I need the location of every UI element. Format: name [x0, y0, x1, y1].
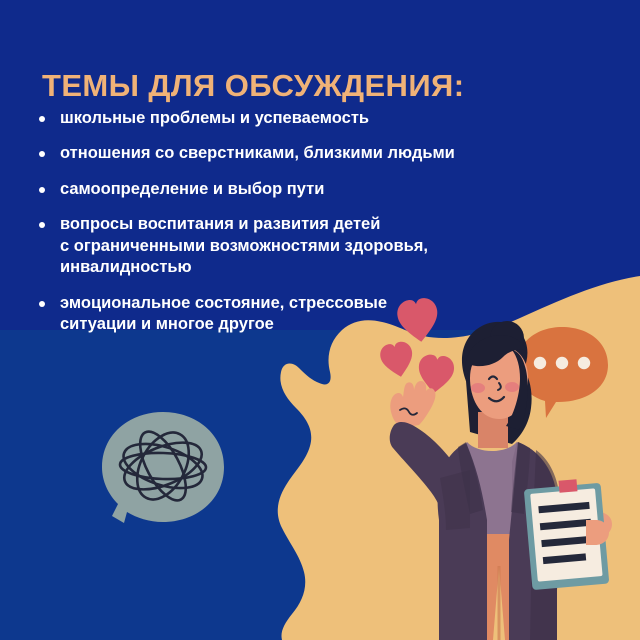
topics-list: школьные проблемы и успеваемость отношен…: [30, 108, 560, 336]
list-item-label: отношения со сверстниками, близкими людь…: [60, 143, 560, 164]
list-item: вопросы воспитания и развития детей с ог…: [30, 214, 560, 278]
list-item: школьные проблемы и успеваемость: [30, 108, 560, 129]
list-item-label: вопросы воспитания и развития детей с ог…: [60, 214, 560, 278]
bullet-dot-icon: [39, 151, 45, 157]
bullet-dot-icon: [39, 187, 45, 193]
page-title: ТЕМЫ ДЛЯ ОБСУЖДЕНИЯ:: [42, 69, 602, 102]
bullet-dot-icon: [39, 222, 45, 228]
list-item: эмоциональное состояние, стрессовые ситу…: [30, 293, 560, 336]
list-item-label: эмоциональное состояние, стрессовые ситу…: [60, 293, 560, 336]
bullet-dot-icon: [39, 116, 45, 122]
list-item-label: самоопределение и выбор пути: [60, 179, 560, 200]
list-item-label: школьные проблемы и успеваемость: [60, 108, 560, 129]
list-item: самоопределение и выбор пути: [30, 179, 560, 200]
bullet-dot-icon: [39, 301, 45, 307]
list-item: отношения со сверстниками, близкими людь…: [30, 143, 560, 164]
text-content-layer: ТЕМЫ ДЛЯ ОБСУЖДЕНИЯ: школьные проблемы и…: [0, 0, 640, 640]
poster-canvas: ТЕМЫ ДЛЯ ОБСУЖДЕНИЯ: школьные проблемы и…: [0, 0, 640, 640]
